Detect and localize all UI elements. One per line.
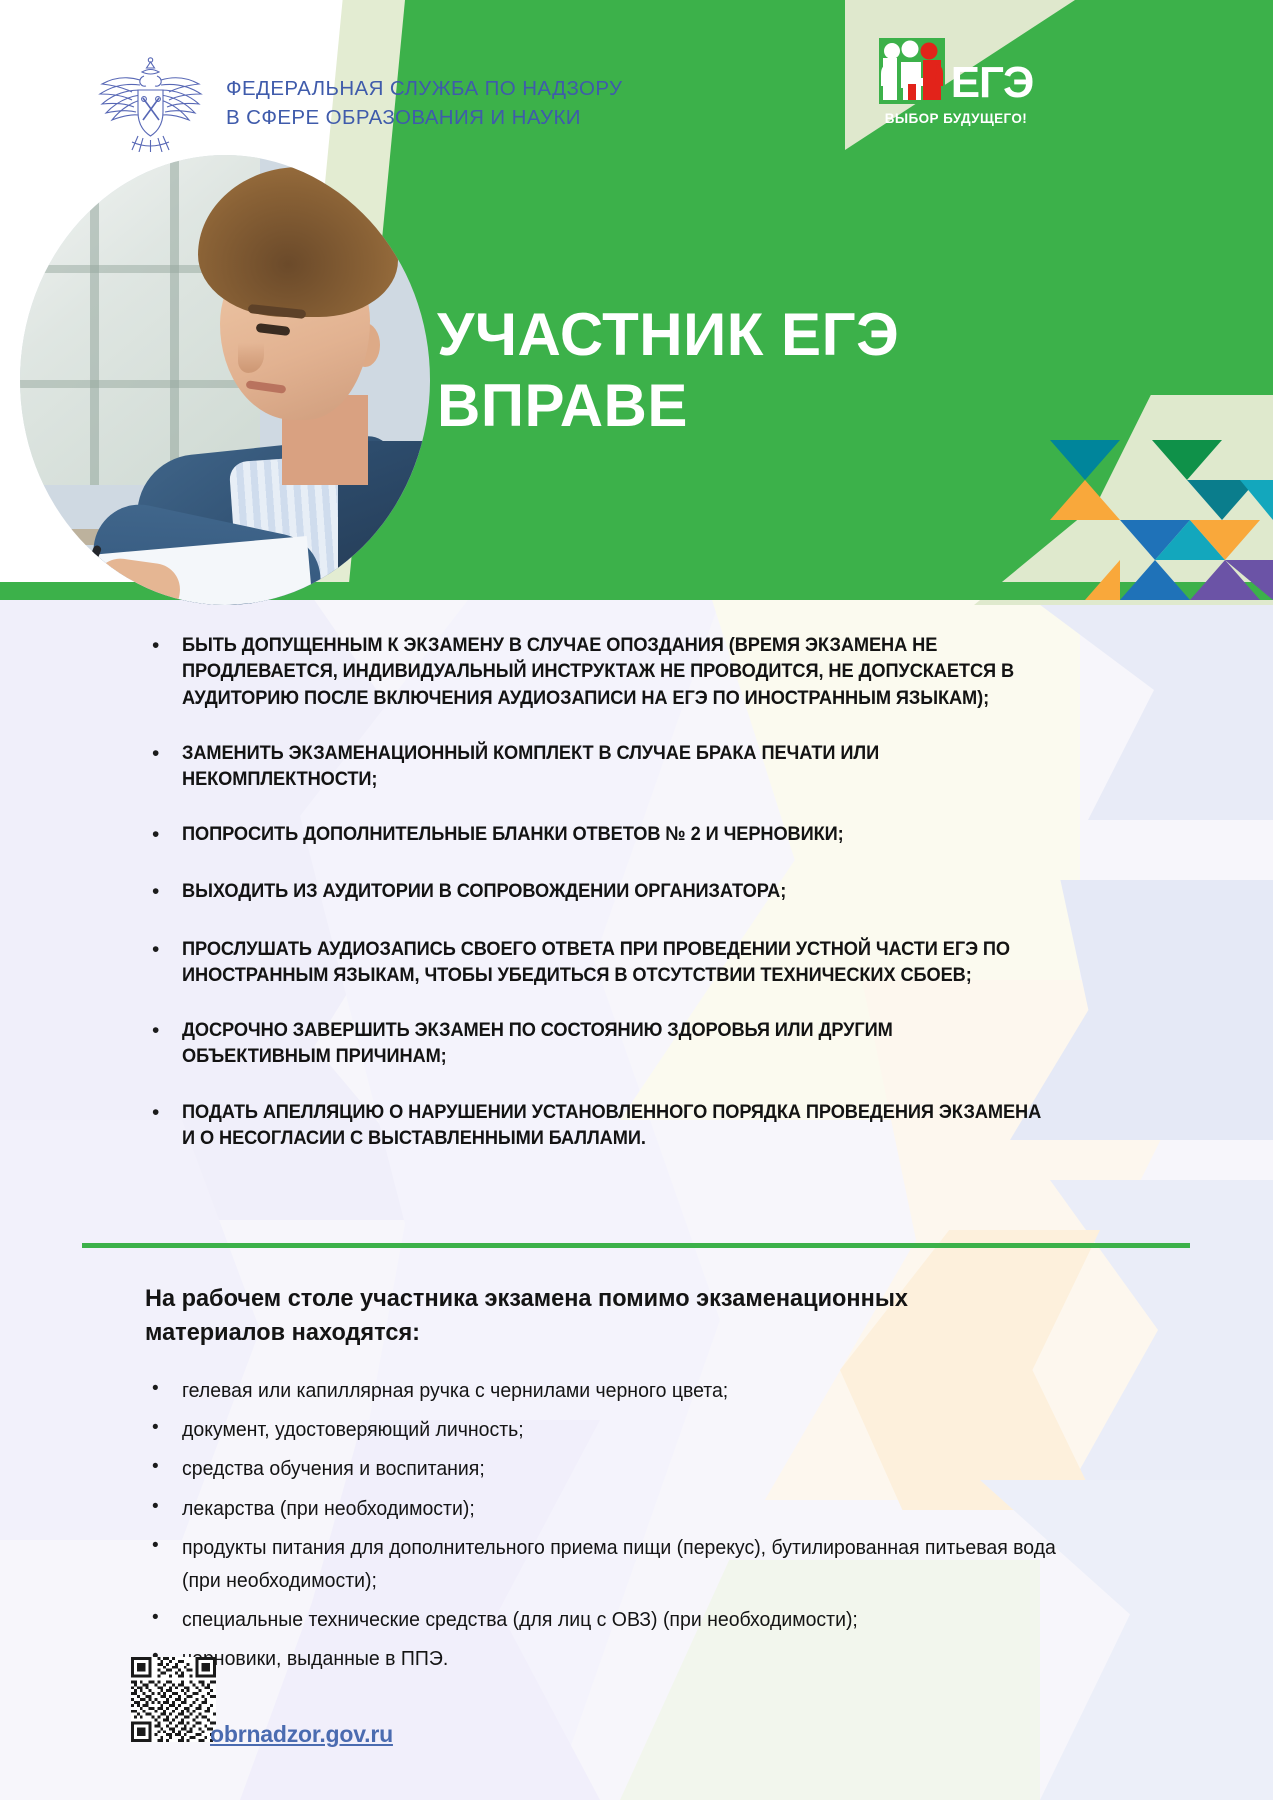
list-item: • черновики, выданные в ППЭ. <box>148 1642 1108 1675</box>
agency-title-line2: В СФЕРЕ ОБРАЗОВАНИЯ И НАУКИ <box>226 103 622 132</box>
rights-item-text: ПОПРОСИТЬ ДОПОЛНИТЕЛЬНЫЕ БЛАНКИ ОТВЕТОВ … <box>182 821 1043 847</box>
ege-logo-text: ЕГЭ <box>951 62 1034 104</box>
ege-logo: ЕГЭ ВЫБОР БУДУЩЕГО! <box>876 38 1036 126</box>
qr-code-icon[interactable] <box>131 1657 216 1742</box>
desk-item-text: продукты питания для дополнительного при… <box>182 1531 1062 1597</box>
rights-item-text: БЫТЬ ДОПУЩЕННЫМ К ЭКЗАМЕНУ В СЛУЧАЕ ОПОЗ… <box>182 632 1043 711</box>
rights-item-text: ПРОСЛУШАТЬ АУДИОЗАПИСЬ СВОЕГО ОТВЕТА ПРИ… <box>182 936 1043 989</box>
ege-slogan: ВЫБОР БУДУЩЕГО! <box>885 111 1027 126</box>
rights-item-text: ДОСРОЧНО ЗАВЕРШИТЬ ЭКЗАМЕН ПО СОСТОЯНИЮ … <box>182 1017 1043 1070</box>
bullet-glyph: • <box>148 1413 182 1444</box>
list-item: • документ, удостоверяющий личность; <box>148 1413 1108 1446</box>
list-item: • средства обучения и воспитания; <box>148 1452 1108 1485</box>
desk-item-text: документ, удостоверяющий личность; <box>182 1413 1062 1446</box>
bullet-glyph: • <box>148 1017 182 1045</box>
bullet-glyph: • <box>148 936 182 964</box>
student-writing-exam-photo <box>20 155 430 605</box>
list-item: • лекарства (при необходимости); <box>148 1492 1108 1525</box>
list-item: • ПРОСЛУШАТЬ АУДИОЗАПИСЬ СВОЕГО ОТВЕТА П… <box>148 936 1108 989</box>
bullet-glyph: • <box>148 1492 182 1523</box>
desk-item-text: лекарства (при необходимости); <box>182 1492 1062 1525</box>
agency-title: ФЕДЕРАЛЬНАЯ СЛУЖБА ПО НАДЗОРУ В СФЕРЕ ОБ… <box>226 74 622 132</box>
list-item: • продукты питания для дополнительного п… <box>148 1531 1108 1597</box>
bullet-glyph: • <box>148 1452 182 1483</box>
section-divider <box>82 1243 1190 1248</box>
bullet-glyph: • <box>148 821 182 849</box>
bullet-glyph: • <box>148 1374 182 1405</box>
page-title: УЧАСТНИК ЕГЭ ВПРАВЕ <box>437 300 997 442</box>
site-url-link[interactable]: obrnadzor.gov.ru <box>210 1721 393 1748</box>
desk-items-list: • гелевая или капиллярная ручка с чернил… <box>148 1374 1108 1682</box>
bullet-glyph: • <box>148 1099 182 1127</box>
poster-root: ФЕДЕРАЛЬНАЯ СЛУЖБА ПО НАДЗОРУ В СФЕРЕ ОБ… <box>0 0 1273 1800</box>
photo-window-mullion <box>20 380 270 388</box>
rights-item-text: ЗАМЕНИТЬ ЭКЗАМЕНАЦИОННЫЙ КОМПЛЕКТ В СЛУЧ… <box>182 740 1043 793</box>
list-item: • ВЫХОДИТЬ ИЗ АУДИТОРИИ В СОПРОВОЖДЕНИИ … <box>148 878 1108 906</box>
ege-people-mark-icon <box>879 38 945 104</box>
bullet-glyph: • <box>148 740 182 768</box>
photo-window-mullion <box>90 155 99 485</box>
list-item: • ДОСРОЧНО ЗАВЕРШИТЬ ЭКЗАМЕН ПО СОСТОЯНИ… <box>148 1017 1108 1070</box>
desk-item-text: средства обучения и воспитания; <box>182 1452 1062 1485</box>
rights-item-text: ПОДАТЬ АПЕЛЛЯЦИЮ О НАРУШЕНИИ УСТАНОВЛЕНН… <box>182 1099 1043 1152</box>
desk-item-text: специальные технические средства (для ли… <box>182 1603 1062 1636</box>
rights-item-text: ВЫХОДИТЬ ИЗ АУДИТОРИИ В СОПРОВОЖДЕНИИ ОР… <box>182 878 1043 904</box>
photo-content <box>20 155 430 605</box>
desk-item-text: черновики, выданные в ППЭ. <box>182 1642 1062 1675</box>
desk-item-text: гелевая или капиллярная ручка с чернилам… <box>182 1374 1062 1407</box>
desk-section-heading: На рабочем столе участника экзамена поми… <box>145 1282 1028 1350</box>
ege-logo-row: ЕГЭ <box>879 38 1034 104</box>
bullet-glyph: • <box>148 878 182 906</box>
list-item: • ПОПРОСИТЬ ДОПОЛНИТЕЛЬНЫЕ БЛАНКИ ОТВЕТО… <box>148 821 1108 849</box>
list-item: • БЫТЬ ДОПУЩЕННЫМ К ЭКЗАМЕНУ В СЛУЧАЕ ОП… <box>148 632 1108 711</box>
agency-title-line1: ФЕДЕРАЛЬНАЯ СЛУЖБА ПО НАДЗОРУ <box>226 74 622 103</box>
rosobrnadzor-eagle-emblem-icon <box>88 52 213 152</box>
bullet-glyph: • <box>148 1603 182 1634</box>
bullet-glyph: • <box>148 1531 182 1562</box>
list-item: • специальные технические средства (для … <box>148 1603 1108 1636</box>
list-item: • гелевая или капиллярная ручка с чернил… <box>148 1374 1108 1407</box>
list-item: • ЗАМЕНИТЬ ЭКЗАМЕНАЦИОННЫЙ КОМПЛЕКТ В СЛ… <box>148 740 1108 793</box>
list-item: • ПОДАТЬ АПЕЛЛЯЦИЮ О НАРУШЕНИИ УСТАНОВЛЕ… <box>148 1099 1108 1152</box>
photo-window-mullion <box>170 155 179 485</box>
bullet-glyph: • <box>148 632 182 660</box>
rights-list: • БЫТЬ ДОПУЩЕННЫМ К ЭКЗАМЕНУ В СЛУЧАЕ ОП… <box>148 632 1108 1180</box>
